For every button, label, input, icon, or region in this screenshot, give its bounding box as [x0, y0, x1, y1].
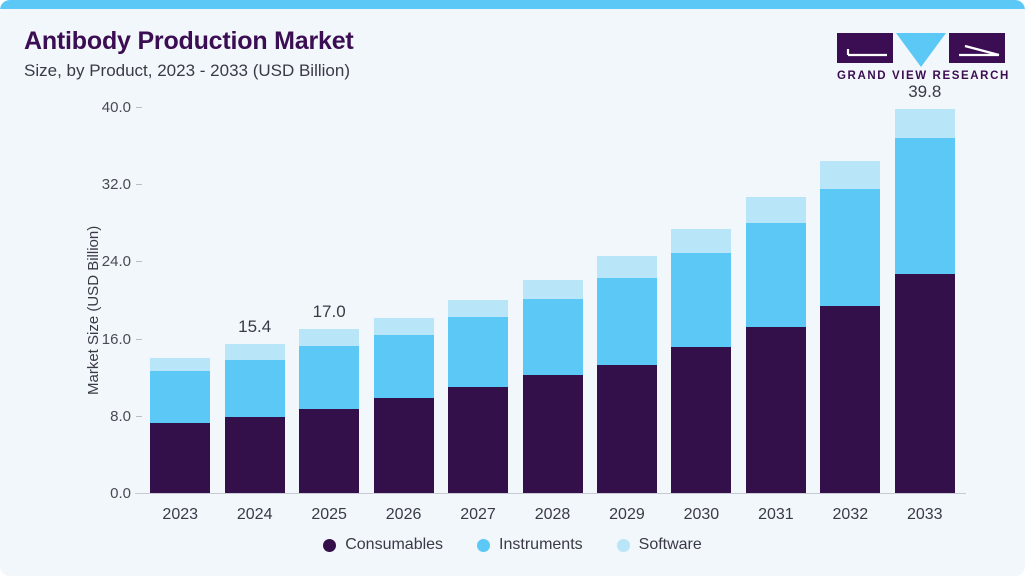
chart-card: Antibody Production Market Size, by Prod… [0, 0, 1025, 576]
bar-segment-consumables[interactable] [299, 409, 359, 493]
bar-segment-instruments[interactable] [448, 317, 508, 386]
bar-stack[interactable] [895, 109, 955, 493]
chart-legend: ConsumablesInstrumentsSoftware [0, 536, 1025, 554]
legend-swatch-icon [617, 539, 630, 552]
legend-swatch-icon [323, 539, 336, 552]
bar-stack[interactable] [299, 329, 359, 493]
bar-segment-consumables[interactable] [374, 398, 434, 493]
y-axis-tick-mark [136, 261, 142, 262]
legend-label: Instruments [499, 536, 583, 554]
bar-segment-software[interactable] [895, 109, 955, 138]
y-axis-tick-label: 8.0 [71, 408, 131, 425]
y-axis-tick-label: 0.0 [71, 485, 131, 502]
bar-segment-consumables[interactable] [448, 387, 508, 493]
bar-segment-software[interactable] [746, 197, 806, 223]
legend-item[interactable]: Consumables [323, 536, 443, 554]
bar-stack[interactable] [150, 358, 210, 493]
bar-stack[interactable] [597, 256, 657, 493]
legend-label: Consumables [345, 536, 443, 554]
bar-segment-instruments[interactable] [895, 138, 955, 274]
bar-segment-instruments[interactable] [671, 253, 731, 348]
y-axis-title: Market Size (USD Billion) [85, 226, 102, 395]
bar-stack[interactable] [523, 280, 583, 493]
bar-stack[interactable] [448, 300, 508, 493]
y-axis-tick-label: 32.0 [71, 176, 131, 193]
bar-segment-software[interactable] [671, 229, 731, 253]
legend-item[interactable]: Instruments [477, 536, 583, 554]
bar-segment-instruments[interactable] [746, 223, 806, 327]
legend-item[interactable]: Software [617, 536, 702, 554]
bar-stack[interactable] [671, 229, 731, 493]
bar-segment-consumables[interactable] [820, 306, 880, 493]
x-axis-baseline [135, 493, 966, 494]
y-axis-tick-mark [136, 184, 142, 185]
x-axis-tick-label: 2033 [865, 506, 985, 524]
y-axis-tick-mark [136, 339, 142, 340]
legend-label: Software [639, 536, 702, 554]
bar-segment-software[interactable] [523, 280, 583, 299]
bar-segment-consumables[interactable] [597, 365, 657, 493]
bar-value-label: 39.8 [865, 82, 985, 102]
bar-segment-instruments[interactable] [523, 299, 583, 375]
bar-stack[interactable] [746, 197, 806, 493]
bar-segment-instruments[interactable] [597, 278, 657, 365]
legend-swatch-icon [477, 539, 490, 552]
bar-segment-instruments[interactable] [374, 335, 434, 399]
bar-segment-software[interactable] [150, 358, 210, 372]
bar-segment-instruments[interactable] [299, 346, 359, 409]
bar-stack[interactable] [820, 161, 880, 493]
bar-segment-instruments[interactable] [150, 371, 210, 422]
bar-segment-software[interactable] [225, 344, 285, 359]
bar-segment-consumables[interactable] [895, 274, 955, 493]
y-axis-tick-label: 40.0 [71, 99, 131, 116]
y-axis-tick-mark [136, 107, 142, 108]
bar-value-label: 17.0 [269, 302, 389, 322]
bar-segment-consumables[interactable] [746, 327, 806, 493]
bar-stack[interactable] [374, 318, 434, 493]
bar-segment-instruments[interactable] [225, 360, 285, 417]
bar-segment-consumables[interactable] [150, 423, 210, 493]
bar-segment-software[interactable] [820, 161, 880, 189]
bar-segment-software[interactable] [299, 329, 359, 346]
bar-segment-consumables[interactable] [523, 375, 583, 493]
bar-segment-instruments[interactable] [820, 189, 880, 306]
bar-segment-consumables[interactable] [225, 417, 285, 493]
bar-stack[interactable] [225, 344, 285, 493]
bar-segment-software[interactable] [597, 256, 657, 278]
plot-area: 0.08.016.024.032.040.0Market Size (USD B… [0, 0, 1025, 576]
bar-segment-software[interactable] [374, 318, 434, 334]
y-axis-tick-mark [136, 416, 142, 417]
bar-segment-software[interactable] [448, 300, 508, 317]
bar-segment-consumables[interactable] [671, 347, 731, 493]
